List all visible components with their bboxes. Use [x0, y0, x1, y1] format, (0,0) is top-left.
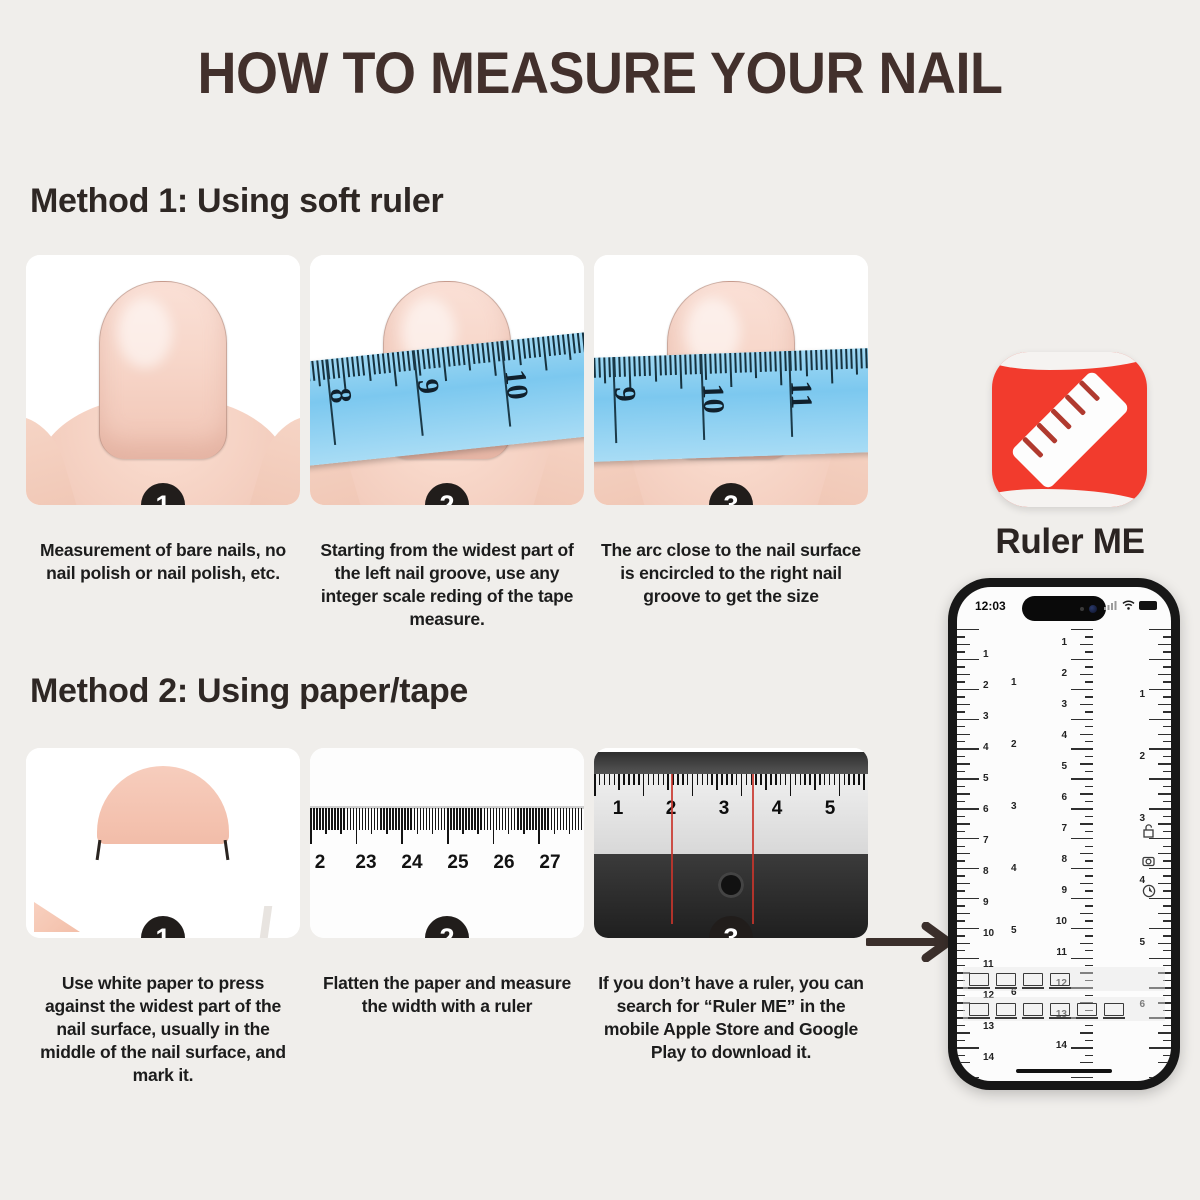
step-caption: If you don’t have a ruler, you can searc…	[594, 972, 868, 1064]
measure-tool-icon[interactable]	[1023, 1003, 1043, 1016]
method-1-heading: Method 1: Using soft ruler	[30, 182, 443, 221]
step-caption: Starting from the widest part of the lef…	[310, 539, 584, 631]
measure-tool-row-1[interactable]	[963, 967, 1165, 991]
measure-tool-icon[interactable]	[1050, 973, 1070, 986]
method-2-step-2: 22324252627 2 Flatten the paper and meas…	[310, 748, 584, 1087]
ruler-scale-number: 4	[983, 742, 989, 753]
page-title: HOW TO MEASURE YOUR NAIL	[42, 40, 1158, 107]
ruler-scale-number: 11	[1056, 947, 1067, 958]
step-caption: Use white paper to press against the wid…	[26, 972, 300, 1087]
ruler-scale-number: 5	[983, 773, 989, 784]
phone-screen[interactable]: 12:03 1234567891011121314	[957, 587, 1171, 1081]
ruler-scale-number: 1	[1139, 689, 1145, 700]
phone-mockup: 12:03 1234567891011121314	[948, 578, 1180, 1090]
ruler-scale-number: 3	[1061, 699, 1067, 710]
lock-open-icon	[1141, 823, 1157, 839]
method-2-step-3: 12345 3 If you don’t have a ruler, you c…	[594, 748, 868, 1087]
finger-illustration	[26, 255, 300, 505]
tape-measure-band: 91011	[594, 348, 868, 462]
ruler-scale-number: 6	[983, 804, 989, 815]
ruler-scale-number: 4	[1061, 730, 1067, 741]
measure-tool-icon[interactable]	[1023, 973, 1043, 986]
tape-number: 10	[695, 383, 730, 414]
measure-tool-icon[interactable]	[1050, 1003, 1070, 1016]
dynamic-island	[1022, 596, 1106, 621]
ruler-illustration: 22324252627	[310, 748, 584, 938]
nail-shape	[99, 281, 227, 459]
ruler-numbers: 22324252627	[310, 852, 584, 882]
ruler-number: 1	[613, 798, 624, 820]
ruler-scale-number: 10	[1056, 916, 1067, 927]
ruler-scale-number-secondary: 5	[1011, 925, 1017, 936]
ruler-over-phone-photo: 12345 3	[594, 748, 868, 938]
ruler-scale-number: 6	[1061, 792, 1067, 803]
status-bar-time: 12:03	[975, 599, 1006, 613]
ruler-scale-number: 14	[1056, 1040, 1067, 1051]
ruler-number: 2	[315, 852, 326, 874]
tape-on-finger-photo: 8910 2	[310, 255, 584, 505]
method-2-cards: 1 Use white paper to press against the w…	[26, 748, 868, 1087]
device-lens	[718, 872, 744, 898]
ruler-number: 3	[719, 798, 730, 820]
ruler-scale-number: 1	[983, 649, 989, 660]
ruler-scale-number: 5	[1139, 937, 1145, 948]
measure-tool-icon[interactable]	[1104, 1003, 1124, 1016]
ruler-number: 4	[772, 798, 783, 820]
ruler-scale-number: 14	[983, 1052, 994, 1063]
compass-icon	[1141, 883, 1157, 899]
ruler-ticks	[594, 774, 868, 796]
measure-tool-icon[interactable]	[1077, 1003, 1097, 1016]
tape-wrapped-photo: 91011 3	[594, 255, 868, 505]
sensor-dot-icon	[1080, 607, 1084, 611]
status-bar-icons	[1104, 600, 1157, 610]
ruler-scale-number: 8	[1061, 854, 1067, 865]
tape-number: 10	[497, 368, 534, 401]
ruler-scale-number: 5	[1061, 761, 1067, 772]
ruler-ticks	[310, 808, 584, 844]
ruler-scale-number-secondary: 1	[1011, 677, 1017, 688]
method-2-step-1: 1 Use white paper to press against the w…	[26, 748, 300, 1087]
app-name-label: Ruler ME	[960, 522, 1180, 562]
ruler-scale-number-secondary: 2	[1011, 739, 1017, 750]
ruler-scale-number: 1	[1061, 637, 1067, 648]
ruler-number: 23	[355, 852, 376, 874]
ruler-number: 5	[825, 798, 836, 820]
nail-highlight	[118, 298, 172, 368]
step-caption: The arc close to the nail surface is enc…	[594, 539, 868, 608]
measure-tool-icon[interactable]	[996, 973, 1016, 986]
ruler-photo: 22324252627 2	[310, 748, 584, 938]
battery-icon	[1139, 601, 1157, 610]
ruler-scale-number: 3	[983, 711, 989, 722]
device-top-edge	[594, 752, 868, 774]
ruler-app-icon[interactable]	[992, 352, 1147, 507]
ruler-scale-number: 13	[983, 1021, 994, 1032]
ruler-scale-number: 9	[983, 897, 989, 908]
camera-icon	[1141, 853, 1157, 869]
ruler-scale-number: 9	[1061, 885, 1067, 896]
icon-ruler-glyph	[1009, 369, 1129, 489]
tape-number: 9	[607, 386, 642, 402]
measure-tool-icon[interactable]	[969, 973, 989, 986]
home-indicator	[1016, 1069, 1112, 1073]
step-caption: Flatten the paper and measure the width …	[310, 972, 584, 1018]
ruler-number: 25	[447, 852, 468, 874]
ruler-scale-number-secondary: 3	[1011, 801, 1017, 812]
ruler-number: 27	[539, 852, 560, 874]
method-1-step-3: 91011 3 The arc close to the nail surfac…	[594, 255, 868, 631]
marker-line	[671, 774, 673, 924]
ruler-scale-number: 8	[983, 866, 989, 877]
ruler-scale-number: 2	[983, 680, 989, 691]
ruler-scale-left: 1234567891011121314	[957, 629, 1015, 1059]
wifi-icon	[1122, 600, 1135, 610]
infographic-page: HOW TO MEASURE YOUR NAIL Method 1: Using…	[0, 0, 1200, 1200]
marker-line	[752, 774, 754, 924]
icon-wave-bottom	[992, 489, 1147, 507]
method-1-cards: 1 Measurement of bare nails, no nail pol…	[26, 255, 868, 631]
method-2-heading: Method 2: Using paper/tape	[30, 672, 468, 711]
tape-number: 8	[322, 386, 357, 404]
bare-nail-photo: 1	[26, 255, 300, 505]
method-1-step-1: 1 Measurement of bare nails, no nail pol…	[26, 255, 300, 631]
step-caption: Measurement of bare nails, no nail polis…	[26, 539, 300, 585]
measure-tool-row-2[interactable]	[963, 997, 1165, 1021]
tape-number: 9	[410, 377, 445, 395]
icon-wave-top	[992, 352, 1147, 370]
front-camera-icon	[1089, 605, 1097, 613]
cellular-icon	[1104, 600, 1118, 610]
ruler-scale-center: 1234567891011121314123456	[1035, 629, 1093, 1059]
method-1-step-2: 8910 2 Starting from the widest part of …	[310, 255, 584, 631]
tape-number: 11	[783, 380, 818, 410]
phone-tool-icons	[1141, 823, 1157, 899]
ruler-scale-number: 2	[1139, 751, 1145, 762]
ruler-scale-number: 7	[1061, 823, 1067, 834]
ruler-scale-number: 7	[983, 835, 989, 846]
measure-tool-icon[interactable]	[996, 1003, 1016, 1016]
ruler-scale-number: 10	[983, 928, 994, 939]
ruler-scale-number-secondary: 4	[1011, 863, 1017, 874]
ruler-scale-number: 2	[1061, 668, 1067, 679]
ruler-phone-illustration: 12345	[594, 748, 868, 938]
ruler-number: 26	[493, 852, 514, 874]
ruler-number: 24	[401, 852, 422, 874]
nail-imprint-photo: 1	[26, 748, 300, 938]
measure-tool-icon[interactable]	[969, 1003, 989, 1016]
